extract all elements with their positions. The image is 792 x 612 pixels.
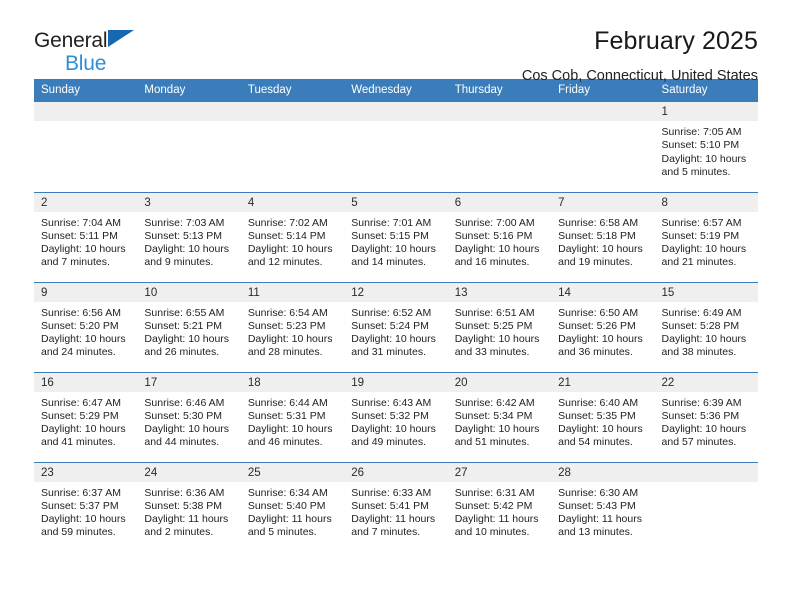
page-header: General Blue February 2025 Cos Cob, Conn… xyxy=(34,0,758,76)
sunrise-text: Sunrise: 6:46 AM xyxy=(144,397,232,410)
daylight-text-line1: Daylight: 10 hours xyxy=(144,423,232,436)
sunrise-text: Sunrise: 6:49 AM xyxy=(662,307,750,320)
calendar-day-cell[interactable]: 25Sunrise: 6:34 AMSunset: 5:40 PMDayligh… xyxy=(241,462,344,552)
daylight-text-line1: Daylight: 10 hours xyxy=(351,333,439,346)
day-details: Sunrise: 6:47 AMSunset: 5:29 PMDaylight:… xyxy=(34,392,137,450)
daylight-text-line1: Daylight: 10 hours xyxy=(41,423,129,436)
day-details: Sunrise: 6:43 AMSunset: 5:32 PMDaylight:… xyxy=(344,392,447,450)
day-details: Sunrise: 6:57 AMSunset: 5:19 PMDaylight:… xyxy=(655,212,758,270)
weekday-header-wednesday: Wednesday xyxy=(344,79,447,102)
sunrise-text: Sunrise: 6:57 AM xyxy=(662,217,750,230)
calendar-day-cell[interactable]: 17Sunrise: 6:46 AMSunset: 5:30 PMDayligh… xyxy=(137,372,240,462)
day-number xyxy=(34,102,137,121)
sunset-text: Sunset: 5:37 PM xyxy=(41,500,129,513)
calendar-day-cell[interactable]: 4Sunrise: 7:02 AMSunset: 5:14 PMDaylight… xyxy=(241,192,344,282)
sunset-text: Sunset: 5:11 PM xyxy=(41,230,129,243)
daylight-text-line2: and 44 minutes. xyxy=(144,436,232,449)
calendar-day-cell[interactable]: 6Sunrise: 7:00 AMSunset: 5:16 PMDaylight… xyxy=(448,192,551,282)
day-details: Sunrise: 7:01 AMSunset: 5:15 PMDaylight:… xyxy=(344,212,447,270)
sunset-text: Sunset: 5:14 PM xyxy=(248,230,336,243)
daylight-text-line1: Daylight: 11 hours xyxy=(351,513,439,526)
calendar-day-cell[interactable]: 13Sunrise: 6:51 AMSunset: 5:25 PMDayligh… xyxy=(448,282,551,372)
daylight-text-line1: Daylight: 10 hours xyxy=(558,243,646,256)
daylight-text-line1: Daylight: 10 hours xyxy=(455,243,543,256)
daylight-text-line1: Daylight: 11 hours xyxy=(455,513,543,526)
daylight-text-line1: Daylight: 10 hours xyxy=(41,243,129,256)
calendar-week-row: 16Sunrise: 6:47 AMSunset: 5:29 PMDayligh… xyxy=(34,372,758,462)
calendar-week-row: 23Sunrise: 6:37 AMSunset: 5:37 PMDayligh… xyxy=(34,462,758,552)
daylight-text-line2: and 2 minutes. xyxy=(144,526,232,539)
page-title: February 2025 xyxy=(522,26,758,56)
daylight-text-line2: and 41 minutes. xyxy=(41,436,129,449)
day-number: 2 xyxy=(34,193,137,212)
calendar-day-cell[interactable]: 24Sunrise: 6:36 AMSunset: 5:38 PMDayligh… xyxy=(137,462,240,552)
triangle-icon xyxy=(108,30,134,47)
daylight-text-line1: Daylight: 10 hours xyxy=(662,333,750,346)
day-number: 24 xyxy=(137,463,240,482)
day-details: Sunrise: 6:46 AMSunset: 5:30 PMDaylight:… xyxy=(137,392,240,450)
calendar-day-cell[interactable]: 2Sunrise: 7:04 AMSunset: 5:11 PMDaylight… xyxy=(34,192,137,282)
daylight-text-line2: and 54 minutes. xyxy=(558,436,646,449)
sunset-text: Sunset: 5:15 PM xyxy=(351,230,439,243)
calendar-cell-empty xyxy=(34,102,137,192)
sunset-text: Sunset: 5:30 PM xyxy=(144,410,232,423)
day-details: Sunrise: 6:39 AMSunset: 5:36 PMDaylight:… xyxy=(655,392,758,450)
calendar-page: General Blue February 2025 Cos Cob, Conn… xyxy=(0,0,792,612)
sunset-text: Sunset: 5:32 PM xyxy=(351,410,439,423)
day-number: 12 xyxy=(344,283,447,302)
sunrise-text: Sunrise: 6:58 AM xyxy=(558,217,646,230)
daylight-text-line2: and 14 minutes. xyxy=(351,256,439,269)
sunrise-text: Sunrise: 6:43 AM xyxy=(351,397,439,410)
daylight-text-line2: and 49 minutes. xyxy=(351,436,439,449)
sunrise-text: Sunrise: 7:00 AM xyxy=(455,217,543,230)
calendar-day-cell[interactable]: 10Sunrise: 6:55 AMSunset: 5:21 PMDayligh… xyxy=(137,282,240,372)
day-number: 19 xyxy=(344,373,447,392)
daylight-text-line2: and 7 minutes. xyxy=(41,256,129,269)
day-details: Sunrise: 7:05 AMSunset: 5:10 PMDaylight:… xyxy=(655,121,758,179)
daylight-text-line2: and 12 minutes. xyxy=(248,256,336,269)
day-number xyxy=(137,102,240,121)
sunrise-text: Sunrise: 6:42 AM xyxy=(455,397,543,410)
sunrise-text: Sunrise: 6:50 AM xyxy=(558,307,646,320)
day-details: Sunrise: 6:33 AMSunset: 5:41 PMDaylight:… xyxy=(344,482,447,540)
daylight-text-line2: and 21 minutes. xyxy=(662,256,750,269)
sunset-text: Sunset: 5:21 PM xyxy=(144,320,232,333)
daylight-text-line2: and 13 minutes. xyxy=(558,526,646,539)
day-number: 16 xyxy=(34,373,137,392)
sunset-text: Sunset: 5:34 PM xyxy=(455,410,543,423)
weekday-header-tuesday: Tuesday xyxy=(241,79,344,102)
day-number: 25 xyxy=(241,463,344,482)
day-number: 20 xyxy=(448,373,551,392)
sunrise-text: Sunrise: 6:54 AM xyxy=(248,307,336,320)
calendar-day-cell[interactable]: 14Sunrise: 6:50 AMSunset: 5:26 PMDayligh… xyxy=(551,282,654,372)
calendar-day-cell[interactable]: 28Sunrise: 6:30 AMSunset: 5:43 PMDayligh… xyxy=(551,462,654,552)
sunset-text: Sunset: 5:43 PM xyxy=(558,500,646,513)
daylight-text-line1: Daylight: 10 hours xyxy=(558,333,646,346)
day-details: Sunrise: 6:34 AMSunset: 5:40 PMDaylight:… xyxy=(241,482,344,540)
day-number: 21 xyxy=(551,373,654,392)
brand-name-bottom: Blue xyxy=(65,53,164,74)
day-number: 22 xyxy=(655,373,758,392)
calendar-cell-empty xyxy=(344,102,447,192)
day-details: Sunrise: 6:54 AMSunset: 5:23 PMDaylight:… xyxy=(241,302,344,360)
daylight-text-line2: and 5 minutes. xyxy=(662,166,750,179)
calendar-day-cell[interactable]: 5Sunrise: 7:01 AMSunset: 5:15 PMDaylight… xyxy=(344,192,447,282)
day-number: 28 xyxy=(551,463,654,482)
sunrise-text: Sunrise: 7:04 AM xyxy=(41,217,129,230)
calendar-day-cell[interactable]: 20Sunrise: 6:42 AMSunset: 5:34 PMDayligh… xyxy=(448,372,551,462)
sunset-text: Sunset: 5:19 PM xyxy=(662,230,750,243)
day-number: 5 xyxy=(344,193,447,212)
day-number: 26 xyxy=(344,463,447,482)
calendar-day-cell[interactable]: 18Sunrise: 6:44 AMSunset: 5:31 PMDayligh… xyxy=(241,372,344,462)
sunrise-text: Sunrise: 6:34 AM xyxy=(248,487,336,500)
day-details: Sunrise: 6:40 AMSunset: 5:35 PMDaylight:… xyxy=(551,392,654,450)
day-number: 4 xyxy=(241,193,344,212)
day-details: Sunrise: 7:03 AMSunset: 5:13 PMDaylight:… xyxy=(137,212,240,270)
sunrise-text: Sunrise: 7:03 AM xyxy=(144,217,232,230)
sunset-text: Sunset: 5:40 PM xyxy=(248,500,336,513)
sunset-text: Sunset: 5:13 PM xyxy=(144,230,232,243)
sunset-text: Sunset: 5:41 PM xyxy=(351,500,439,513)
daylight-text-line1: Daylight: 10 hours xyxy=(662,423,750,436)
sunset-text: Sunset: 5:23 PM xyxy=(248,320,336,333)
sunrise-text: Sunrise: 6:33 AM xyxy=(351,487,439,500)
calendar-day-cell[interactable]: 16Sunrise: 6:47 AMSunset: 5:29 PMDayligh… xyxy=(34,372,137,462)
daylight-text-line2: and 28 minutes. xyxy=(248,346,336,359)
sunrise-text: Sunrise: 6:56 AM xyxy=(41,307,129,320)
day-details: Sunrise: 6:42 AMSunset: 5:34 PMDaylight:… xyxy=(448,392,551,450)
calendar-day-cell[interactable]: 26Sunrise: 6:33 AMSunset: 5:41 PMDayligh… xyxy=(344,462,447,552)
day-details: Sunrise: 6:36 AMSunset: 5:38 PMDaylight:… xyxy=(137,482,240,540)
day-details: Sunrise: 7:00 AMSunset: 5:16 PMDaylight:… xyxy=(448,212,551,270)
daylight-text-line2: and 26 minutes. xyxy=(144,346,232,359)
day-number: 23 xyxy=(34,463,137,482)
sunrise-text: Sunrise: 7:05 AM xyxy=(662,126,750,139)
sunset-text: Sunset: 5:26 PM xyxy=(558,320,646,333)
calendar-day-cell[interactable]: 7Sunrise: 6:58 AMSunset: 5:18 PMDaylight… xyxy=(551,192,654,282)
daylight-text-line1: Daylight: 11 hours xyxy=(558,513,646,526)
daylight-text-line2: and 33 minutes. xyxy=(455,346,543,359)
sunset-text: Sunset: 5:20 PM xyxy=(41,320,129,333)
day-details: Sunrise: 6:52 AMSunset: 5:24 PMDaylight:… xyxy=(344,302,447,360)
daylight-text-line1: Daylight: 10 hours xyxy=(144,333,232,346)
sunrise-text: Sunrise: 7:01 AM xyxy=(351,217,439,230)
daylight-text-line2: and 51 minutes. xyxy=(455,436,543,449)
sunset-text: Sunset: 5:25 PM xyxy=(455,320,543,333)
sunset-text: Sunset: 5:29 PM xyxy=(41,410,129,423)
day-details: Sunrise: 6:30 AMSunset: 5:43 PMDaylight:… xyxy=(551,482,654,540)
calendar-day-cell[interactable]: 27Sunrise: 6:31 AMSunset: 5:42 PMDayligh… xyxy=(448,462,551,552)
daylight-text-line1: Daylight: 10 hours xyxy=(41,333,129,346)
daylight-text-line1: Daylight: 10 hours xyxy=(662,153,750,166)
sunrise-text: Sunrise: 6:51 AM xyxy=(455,307,543,320)
calendar-day-cell[interactable]: 23Sunrise: 6:37 AMSunset: 5:37 PMDayligh… xyxy=(34,462,137,552)
sunset-text: Sunset: 5:10 PM xyxy=(662,139,750,152)
daylight-text-line1: Daylight: 10 hours xyxy=(351,423,439,436)
day-number xyxy=(551,102,654,121)
sunrise-text: Sunrise: 7:02 AM xyxy=(248,217,336,230)
daylight-text-line2: and 57 minutes. xyxy=(662,436,750,449)
day-number: 18 xyxy=(241,373,344,392)
daylight-text-line2: and 10 minutes. xyxy=(455,526,543,539)
daylight-text-line2: and 5 minutes. xyxy=(248,526,336,539)
calendar-day-cell[interactable]: 19Sunrise: 6:43 AMSunset: 5:32 PMDayligh… xyxy=(344,372,447,462)
daylight-text-line1: Daylight: 10 hours xyxy=(455,423,543,436)
calendar-day-cell[interactable]: 8Sunrise: 6:57 AMSunset: 5:19 PMDaylight… xyxy=(655,192,758,282)
daylight-text-line2: and 59 minutes. xyxy=(41,526,129,539)
sunset-text: Sunset: 5:36 PM xyxy=(662,410,750,423)
day-details: Sunrise: 7:04 AMSunset: 5:11 PMDaylight:… xyxy=(34,212,137,270)
calendar-day-cell[interactable]: 11Sunrise: 6:54 AMSunset: 5:23 PMDayligh… xyxy=(241,282,344,372)
day-details: Sunrise: 6:37 AMSunset: 5:37 PMDaylight:… xyxy=(34,482,137,540)
sunrise-text: Sunrise: 6:44 AM xyxy=(248,397,336,410)
day-number: 1 xyxy=(655,102,758,121)
calendar-day-cell[interactable]: 22Sunrise: 6:39 AMSunset: 5:36 PMDayligh… xyxy=(655,372,758,462)
daylight-text-line1: Daylight: 10 hours xyxy=(144,243,232,256)
calendar-cell-empty xyxy=(137,102,240,192)
calendar-cell-empty xyxy=(551,102,654,192)
daylight-text-line2: and 24 minutes. xyxy=(41,346,129,359)
day-details: Sunrise: 6:55 AMSunset: 5:21 PMDaylight:… xyxy=(137,302,240,360)
day-number: 7 xyxy=(551,193,654,212)
day-number xyxy=(448,102,551,121)
calendar-day-cell[interactable]: 15Sunrise: 6:49 AMSunset: 5:28 PMDayligh… xyxy=(655,282,758,372)
calendar-day-cell[interactable]: 21Sunrise: 6:40 AMSunset: 5:35 PMDayligh… xyxy=(551,372,654,462)
sunrise-text: Sunrise: 6:36 AM xyxy=(144,487,232,500)
day-number xyxy=(344,102,447,121)
daylight-text-line1: Daylight: 10 hours xyxy=(248,243,336,256)
day-details: Sunrise: 6:49 AMSunset: 5:28 PMDaylight:… xyxy=(655,302,758,360)
day-details: Sunrise: 6:44 AMSunset: 5:31 PMDaylight:… xyxy=(241,392,344,450)
sunset-text: Sunset: 5:18 PM xyxy=(558,230,646,243)
sunset-text: Sunset: 5:31 PM xyxy=(248,410,336,423)
day-number: 10 xyxy=(137,283,240,302)
daylight-text-line1: Daylight: 10 hours xyxy=(41,513,129,526)
page-subtitle: Cos Cob, Connecticut, United States xyxy=(522,66,758,86)
daylight-text-line1: Daylight: 10 hours xyxy=(662,243,750,256)
day-details: Sunrise: 6:58 AMSunset: 5:18 PMDaylight:… xyxy=(551,212,654,270)
day-number: 8 xyxy=(655,193,758,212)
day-details: Sunrise: 6:50 AMSunset: 5:26 PMDaylight:… xyxy=(551,302,654,360)
day-details: Sunrise: 6:31 AMSunset: 5:42 PMDaylight:… xyxy=(448,482,551,540)
title-block: February 2025 Cos Cob, Connecticut, Unit… xyxy=(522,26,758,86)
calendar-day-cell[interactable]: 1Sunrise: 7:05 AMSunset: 5:10 PMDaylight… xyxy=(655,102,758,192)
daylight-text-line2: and 7 minutes. xyxy=(351,526,439,539)
day-number: 9 xyxy=(34,283,137,302)
sunrise-text: Sunrise: 6:30 AM xyxy=(558,487,646,500)
calendar-day-cell[interactable]: 12Sunrise: 6:52 AMSunset: 5:24 PMDayligh… xyxy=(344,282,447,372)
day-number xyxy=(241,102,344,121)
calendar-cell-empty xyxy=(448,102,551,192)
calendar-week-row: 2Sunrise: 7:04 AMSunset: 5:11 PMDaylight… xyxy=(34,192,758,282)
daylight-text-line2: and 38 minutes. xyxy=(662,346,750,359)
sunrise-sunset-calendar: Sunday Monday Tuesday Wednesday Thursday… xyxy=(34,79,758,552)
sunrise-text: Sunrise: 6:47 AM xyxy=(41,397,129,410)
sunset-text: Sunset: 5:38 PM xyxy=(144,500,232,513)
day-number: 27 xyxy=(448,463,551,482)
day-number: 14 xyxy=(551,283,654,302)
daylight-text-line2: and 36 minutes. xyxy=(558,346,646,359)
brand-name-top: General xyxy=(34,30,164,52)
sunset-text: Sunset: 5:16 PM xyxy=(455,230,543,243)
calendar-cell-empty xyxy=(241,102,344,192)
weekday-header-monday: Monday xyxy=(137,79,240,102)
day-details: Sunrise: 6:51 AMSunset: 5:25 PMDaylight:… xyxy=(448,302,551,360)
day-number: 17 xyxy=(137,373,240,392)
weekday-header-sunday: Sunday xyxy=(34,79,137,102)
day-number xyxy=(655,463,758,482)
daylight-text-line2: and 9 minutes. xyxy=(144,256,232,269)
daylight-text-line1: Daylight: 11 hours xyxy=(144,513,232,526)
sunrise-text: Sunrise: 6:37 AM xyxy=(41,487,129,500)
daylight-text-line1: Daylight: 10 hours xyxy=(248,423,336,436)
sunset-text: Sunset: 5:24 PM xyxy=(351,320,439,333)
sunrise-text: Sunrise: 6:55 AM xyxy=(144,307,232,320)
calendar-day-cell[interactable]: 9Sunrise: 6:56 AMSunset: 5:20 PMDaylight… xyxy=(34,282,137,372)
day-details: Sunrise: 7:02 AMSunset: 5:14 PMDaylight:… xyxy=(241,212,344,270)
day-details: Sunrise: 6:56 AMSunset: 5:20 PMDaylight:… xyxy=(34,302,137,360)
daylight-text-line2: and 16 minutes. xyxy=(455,256,543,269)
day-number: 13 xyxy=(448,283,551,302)
day-number: 11 xyxy=(241,283,344,302)
calendar-body: 1Sunrise: 7:05 AMSunset: 5:10 PMDaylight… xyxy=(34,102,758,552)
sunrise-text: Sunrise: 6:31 AM xyxy=(455,487,543,500)
daylight-text-line2: and 19 minutes. xyxy=(558,256,646,269)
daylight-text-line1: Daylight: 10 hours xyxy=(558,423,646,436)
sunset-text: Sunset: 5:35 PM xyxy=(558,410,646,423)
daylight-text-line1: Daylight: 11 hours xyxy=(248,513,336,526)
calendar-cell-empty xyxy=(655,462,758,552)
day-number: 3 xyxy=(137,193,240,212)
daylight-text-line1: Daylight: 10 hours xyxy=(248,333,336,346)
sunrise-text: Sunrise: 6:39 AM xyxy=(662,397,750,410)
sunset-text: Sunset: 5:28 PM xyxy=(662,320,750,333)
daylight-text-line1: Daylight: 10 hours xyxy=(351,243,439,256)
calendar-week-row: 9Sunrise: 6:56 AMSunset: 5:20 PMDaylight… xyxy=(34,282,758,372)
brand-logo[interactable]: General Blue xyxy=(34,26,164,74)
sunset-text: Sunset: 5:42 PM xyxy=(455,500,543,513)
daylight-text-line2: and 46 minutes. xyxy=(248,436,336,449)
sunrise-text: Sunrise: 6:40 AM xyxy=(558,397,646,410)
day-number: 15 xyxy=(655,283,758,302)
calendar-day-cell[interactable]: 3Sunrise: 7:03 AMSunset: 5:13 PMDaylight… xyxy=(137,192,240,282)
calendar-week-row: 1Sunrise: 7:05 AMSunset: 5:10 PMDaylight… xyxy=(34,102,758,192)
sunrise-text: Sunrise: 6:52 AM xyxy=(351,307,439,320)
daylight-text-line2: and 31 minutes. xyxy=(351,346,439,359)
day-number: 6 xyxy=(448,193,551,212)
daylight-text-line1: Daylight: 10 hours xyxy=(455,333,543,346)
